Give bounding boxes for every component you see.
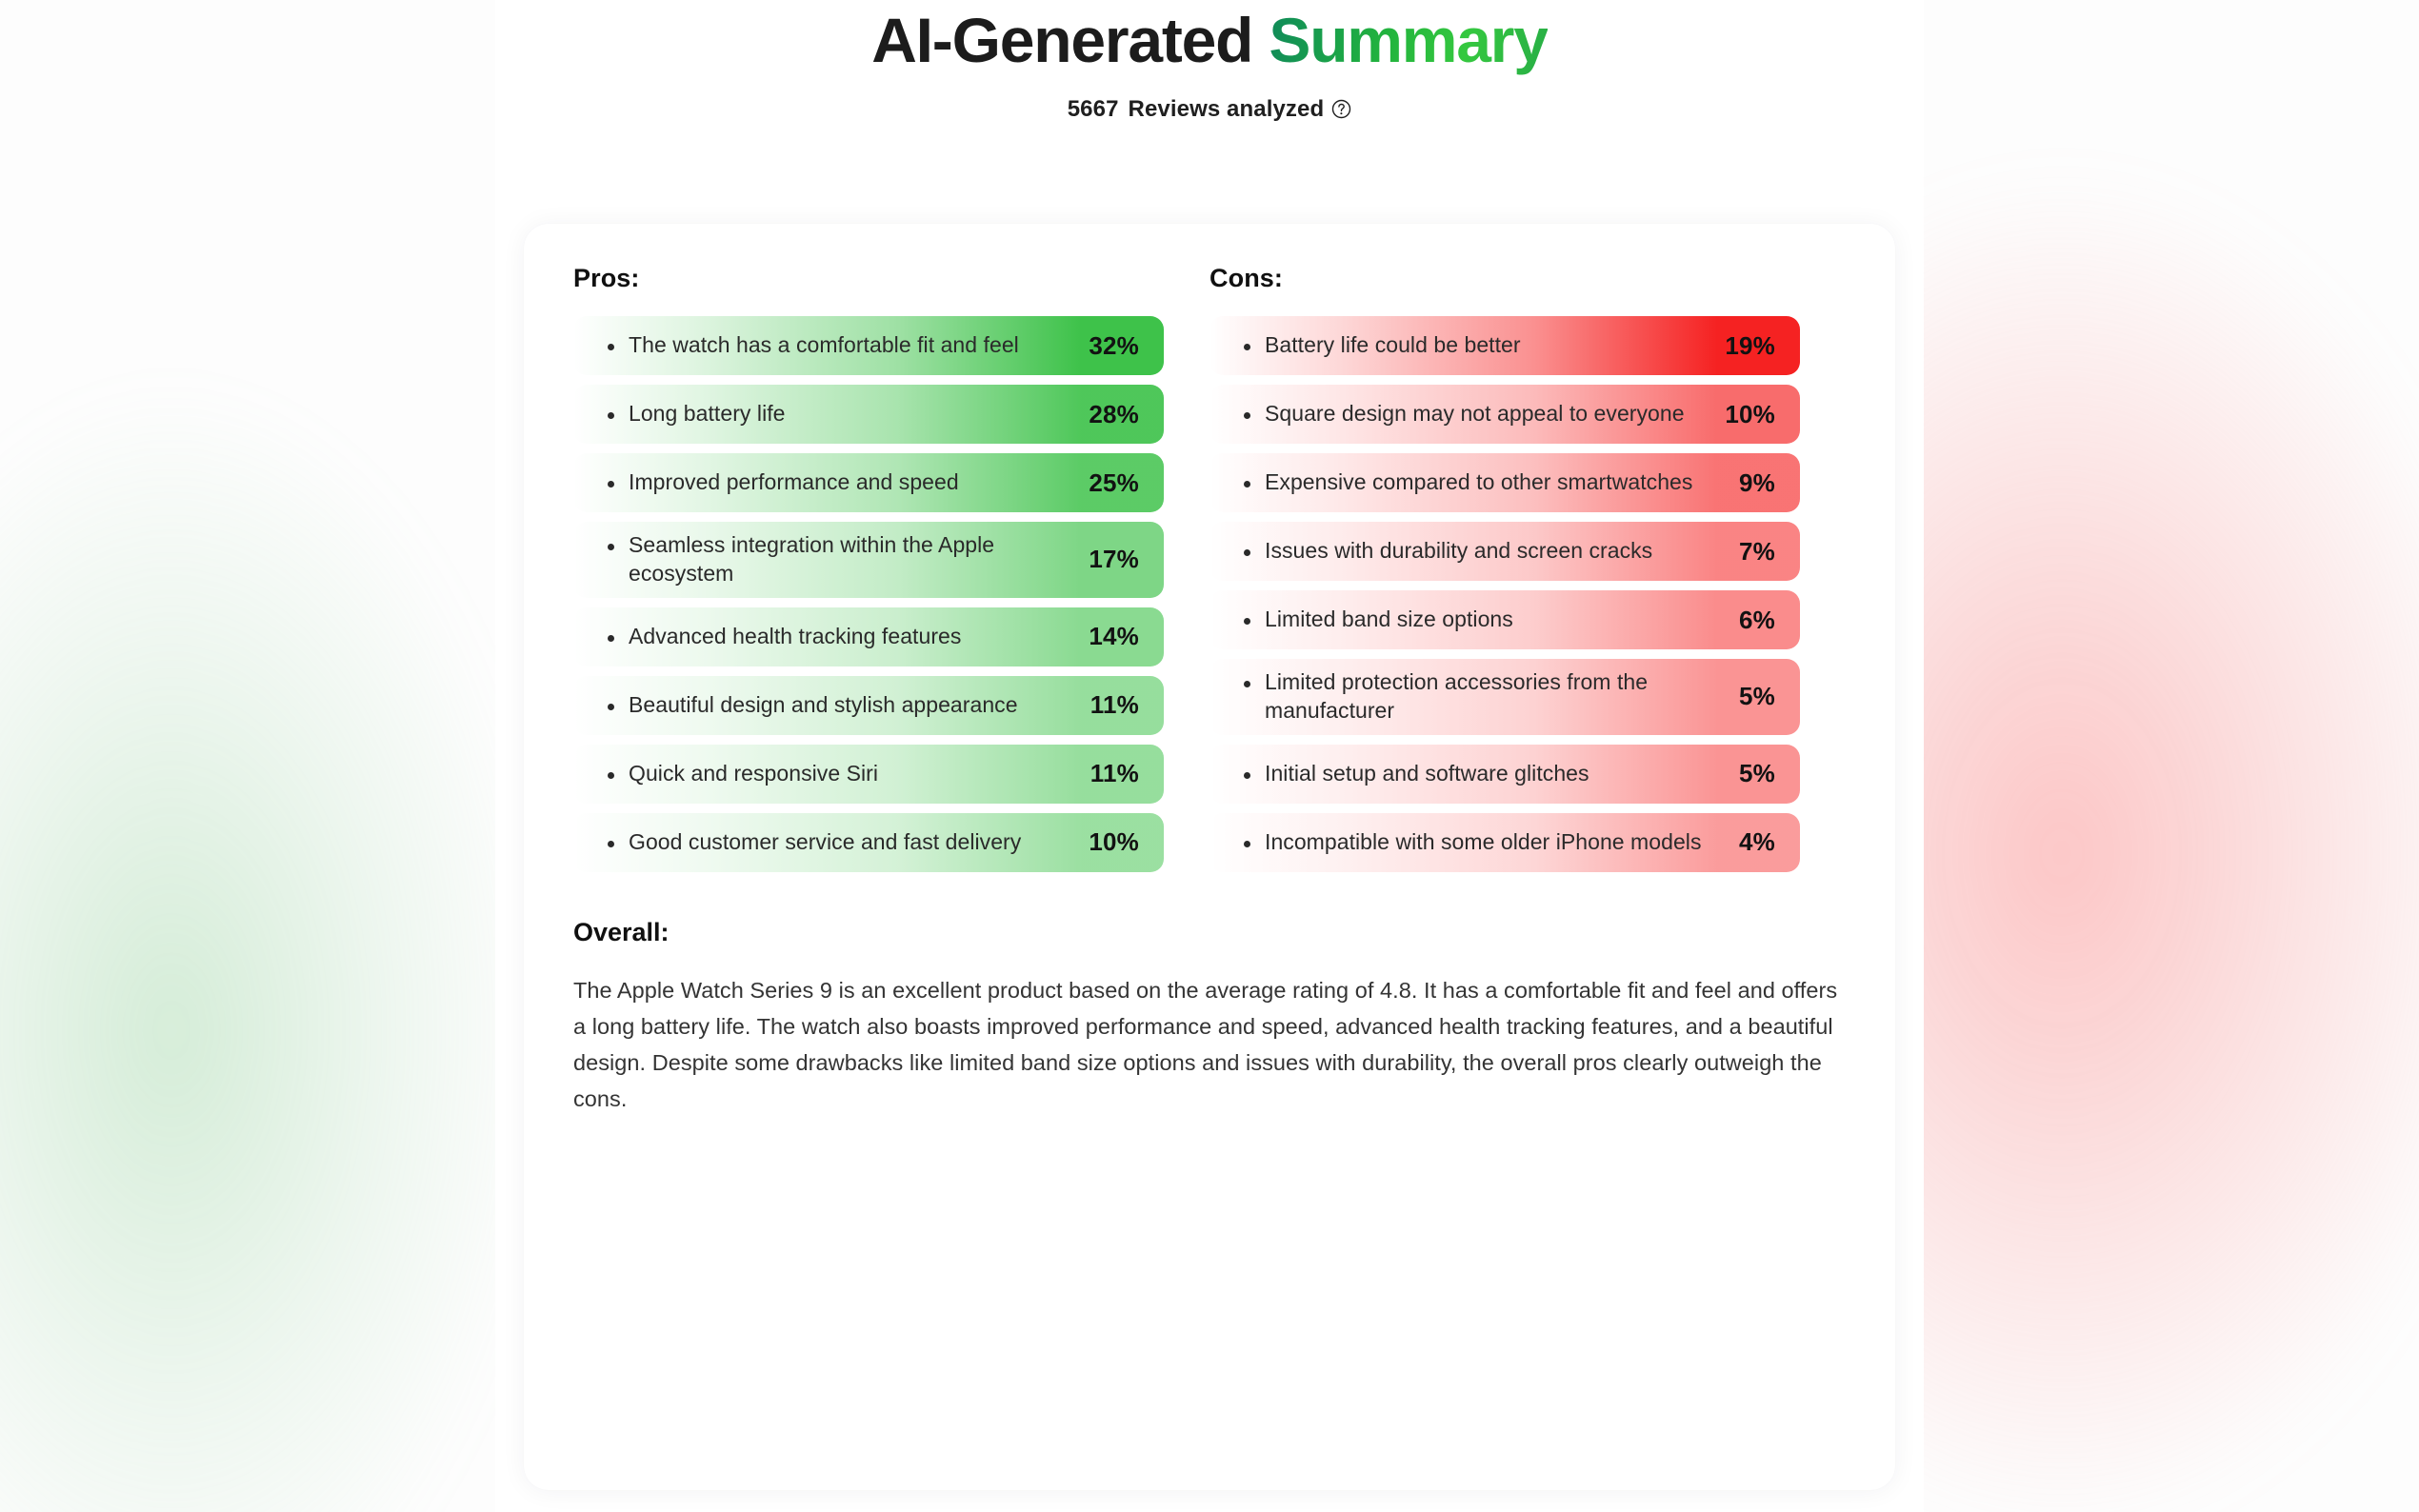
pros-bar-value: 10% xyxy=(1089,827,1164,857)
cons-bar-list: Battery life could be better19%Square de… xyxy=(1209,316,1800,872)
cons-bar-value: 9% xyxy=(1739,468,1800,498)
cons-bar[interactable]: Issues with durability and screen cracks… xyxy=(1209,522,1800,581)
cons-bar-label: Limited protection accessories from the … xyxy=(1209,668,1739,726)
pros-bar-label: The watch has a comfortable fit and feel xyxy=(573,331,1089,360)
pros-bar[interactable]: Long battery life28% xyxy=(573,385,1164,444)
pros-bar[interactable]: Good customer service and fast delivery1… xyxy=(573,813,1164,872)
pros-bar-label: Improved performance and speed xyxy=(573,468,1089,497)
pros-bar-value: 11% xyxy=(1090,690,1164,720)
cons-bar[interactable]: Expensive compared to other smartwatches… xyxy=(1209,453,1800,512)
pros-bar-value: 32% xyxy=(1089,331,1164,361)
page-background: AI-Generated Summary 5667 Reviews analyz… xyxy=(0,0,2419,1512)
pros-bar[interactable]: Quick and responsive Siri11% xyxy=(573,745,1164,804)
page-title-plain: AI-Generated xyxy=(871,5,1269,75)
cons-bar-label: Battery life could be better xyxy=(1209,331,1725,360)
cons-bar[interactable]: Initial setup and software glitches5% xyxy=(1209,745,1800,804)
cons-bar-label: Limited band size options xyxy=(1209,606,1739,634)
cons-bar[interactable]: Limited band size options6% xyxy=(1209,590,1800,649)
pros-bar[interactable]: Seamless integration within the Apple ec… xyxy=(573,522,1164,598)
overall-section: Overall: The Apple Watch Series 9 is an … xyxy=(573,918,1846,1117)
pros-bar[interactable]: Beautiful design and stylish appearance1… xyxy=(573,676,1164,735)
cons-column: Cons: Battery life could be better19%Squ… xyxy=(1209,264,1800,872)
page-title: AI-Generated Summary xyxy=(495,6,1924,75)
pros-bar-label: Long battery life xyxy=(573,400,1089,428)
question-circle-icon[interactable] xyxy=(1331,99,1351,119)
cons-bar-label: Expensive compared to other smartwatches xyxy=(1209,468,1739,497)
summary-card: Pros: The watch has a comfortable fit an… xyxy=(524,224,1895,1490)
cons-bar[interactable]: Square design may not appeal to everyone… xyxy=(1209,385,1800,444)
pros-cons-columns: Pros: The watch has a comfortable fit an… xyxy=(573,264,1846,872)
summary-header: AI-Generated Summary 5667 Reviews analyz… xyxy=(495,0,1924,123)
cons-bar-label: Square design may not appeal to everyone xyxy=(1209,400,1725,428)
pros-bar-value: 14% xyxy=(1089,622,1164,651)
reviews-analyzed: 5667 Reviews analyzed xyxy=(495,96,1924,123)
cons-bar-value: 10% xyxy=(1725,400,1800,429)
reviews-count: 5667 xyxy=(1068,96,1119,123)
pros-bar[interactable]: Advanced health tracking features14% xyxy=(573,607,1164,666)
cons-bar-label: Issues with durability and screen cracks xyxy=(1209,537,1739,566)
pros-bar[interactable]: Improved performance and speed25% xyxy=(573,453,1164,512)
cons-heading: Cons: xyxy=(1209,264,1800,293)
cons-bar[interactable]: Limited protection accessories from the … xyxy=(1209,659,1800,735)
cons-bar-value: 5% xyxy=(1739,682,1800,711)
pros-bar-value: 28% xyxy=(1089,400,1164,429)
pros-bar-value: 17% xyxy=(1089,545,1164,574)
pros-bar-value: 11% xyxy=(1090,759,1164,788)
pros-bar-label: Good customer service and fast delivery xyxy=(573,828,1089,857)
pros-bar-label: Advanced health tracking features xyxy=(573,623,1089,651)
pros-heading: Pros: xyxy=(573,264,1164,293)
pros-bar-label: Beautiful design and stylish appearance xyxy=(573,691,1090,720)
pros-bar-label: Quick and responsive Siri xyxy=(573,760,1090,788)
cons-bar[interactable]: Battery life could be better19% xyxy=(1209,316,1800,375)
cons-bar[interactable]: Incompatible with some older iPhone mode… xyxy=(1209,813,1800,872)
overall-body: The Apple Watch Series 9 is an excellent… xyxy=(573,972,1846,1117)
cons-bar-value: 5% xyxy=(1739,759,1800,788)
cons-bar-value: 4% xyxy=(1739,827,1800,857)
pros-bar-value: 25% xyxy=(1089,468,1164,498)
pros-bar-list: The watch has a comfortable fit and feel… xyxy=(573,316,1164,872)
pros-bar[interactable]: The watch has a comfortable fit and feel… xyxy=(573,316,1164,375)
reviews-analyzed-label: Reviews analyzed xyxy=(1129,96,1325,123)
pros-column: Pros: The watch has a comfortable fit an… xyxy=(573,264,1164,872)
cons-bar-label: Incompatible with some older iPhone mode… xyxy=(1209,828,1739,857)
cons-bar-label: Initial setup and software glitches xyxy=(1209,760,1739,788)
cons-bar-value: 19% xyxy=(1725,331,1800,361)
cons-bar-value: 6% xyxy=(1739,606,1800,635)
summary-sheet: AI-Generated Summary 5667 Reviews analyz… xyxy=(495,0,1924,1512)
cons-bar-value: 7% xyxy=(1739,537,1800,567)
page-title-accent: Summary xyxy=(1269,5,1547,75)
pros-bar-label: Seamless integration within the Apple ec… xyxy=(573,531,1089,588)
overall-heading: Overall: xyxy=(573,918,1846,947)
